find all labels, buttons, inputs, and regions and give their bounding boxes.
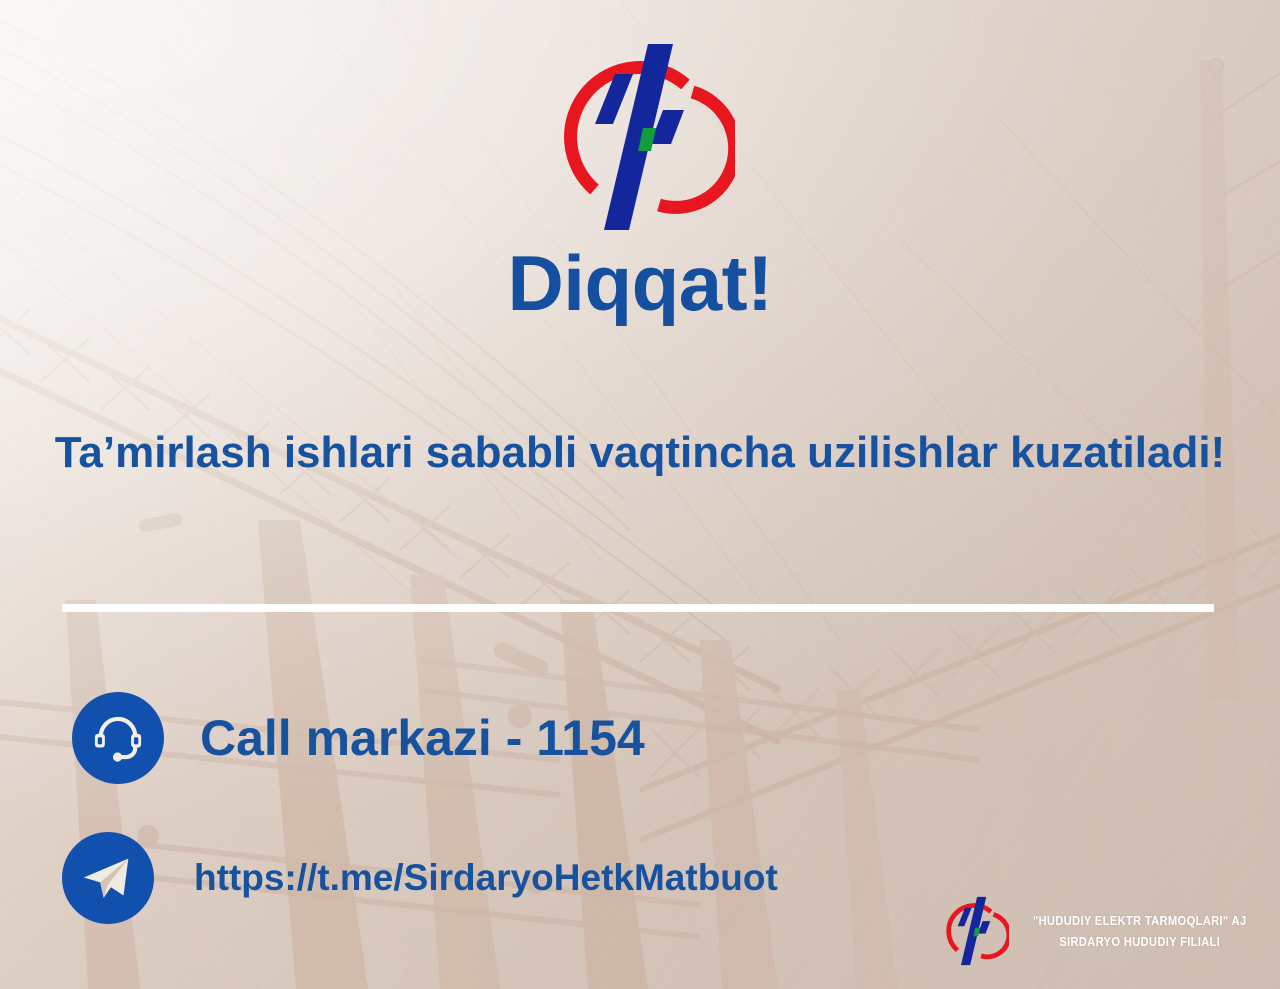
outage-announcement-poster: Diqqat! Ta’mirlash ishlari sababli vaqti… xyxy=(0,0,1280,989)
headset-icon xyxy=(72,692,164,784)
call-center-label: Call markazi - 1154 xyxy=(200,709,645,767)
telegram-link-label[interactable]: https://t.me/SirdaryoHetkMatbuot xyxy=(194,857,778,899)
horizontal-divider xyxy=(62,604,1214,612)
watermark: "HUDUDIY ELEKTR TARMOQLARI" AJ SIRDARYO … xyxy=(943,895,1258,967)
company-logo-icon xyxy=(555,42,735,232)
watermark-line-2: SIRDARYO HUDUDIY FILIALI xyxy=(1059,935,1220,949)
announcement-message: Ta’mirlash ishlari sababli vaqtincha uzi… xyxy=(30,424,1250,483)
page-title: Diqqat! xyxy=(0,244,1280,322)
telegram-icon xyxy=(62,832,154,924)
contact-row-call-center[interactable]: Call markazi - 1154 xyxy=(72,692,645,784)
contact-row-telegram[interactable]: https://t.me/SirdaryoHetkMatbuot xyxy=(62,832,778,924)
watermark-line-1: "HUDUDIY ELEKTR TARMOQLARI" AJ xyxy=(1033,914,1247,928)
watermark-company-logo-icon xyxy=(943,895,1009,967)
